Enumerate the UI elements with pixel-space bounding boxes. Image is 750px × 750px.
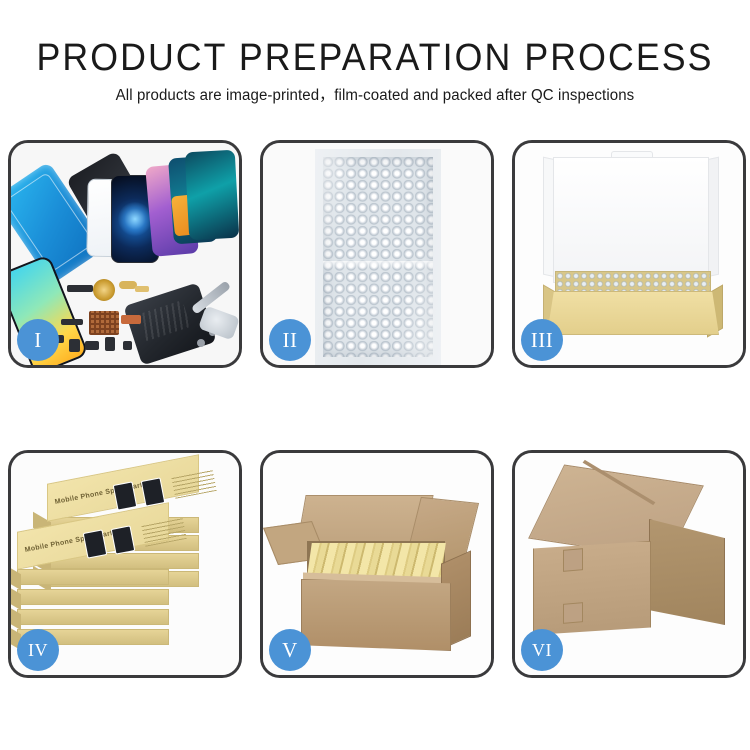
step-panel-6: VI [512,450,746,678]
step-badge-1: I [17,319,59,361]
step-panel-2: II [260,140,494,368]
chip-board-part [89,311,119,335]
connector-part [135,286,149,292]
wrap-gloss [323,157,433,357]
box-contents-bubble-wrap [555,271,711,293]
steps-grid: I II III [8,140,742,678]
sealed-carton-side [649,519,725,625]
antenna-part [61,319,83,325]
box-lid-panel [553,157,709,283]
step-panel-3: III [512,140,746,368]
carton-front-panel [301,579,451,651]
step-badge-5: V [269,629,311,671]
page-title: PRODUCT PREPARATION PROCESS [23,36,728,80]
box-front-panel [547,291,719,335]
step-badge-4: IV [17,629,59,671]
button-part [85,341,99,350]
sensor-part [105,337,115,351]
copper-coil-part [93,279,115,301]
page-subtitle: All products are image-printed，film-coat… [11,86,739,106]
sim-tray-part [123,341,132,350]
speaker-part [67,285,93,292]
step-badge-6: VI [521,629,563,671]
camera-module-part [69,339,80,352]
step-badge-2: II [269,319,311,361]
step-badge-3: III [521,319,563,361]
sealed-carton-tab-top [563,548,583,572]
flex-cable-part-2 [121,315,141,324]
step-panel-5: V [260,450,494,678]
product-preparation-infographic: PRODUCT PREPARATION PROCESS All products… [0,0,750,750]
screw-part [197,339,205,347]
sealed-carton-tab-bottom [563,602,583,624]
phone-teal-display-2 [185,150,240,240]
step-panel-1: I [8,140,242,368]
header: PRODUCT PREPARATION PROCESS All products… [0,0,750,128]
step-panel-4: Mobile Phone Spare Parts [8,450,242,678]
sealed-carton-front [533,541,651,635]
